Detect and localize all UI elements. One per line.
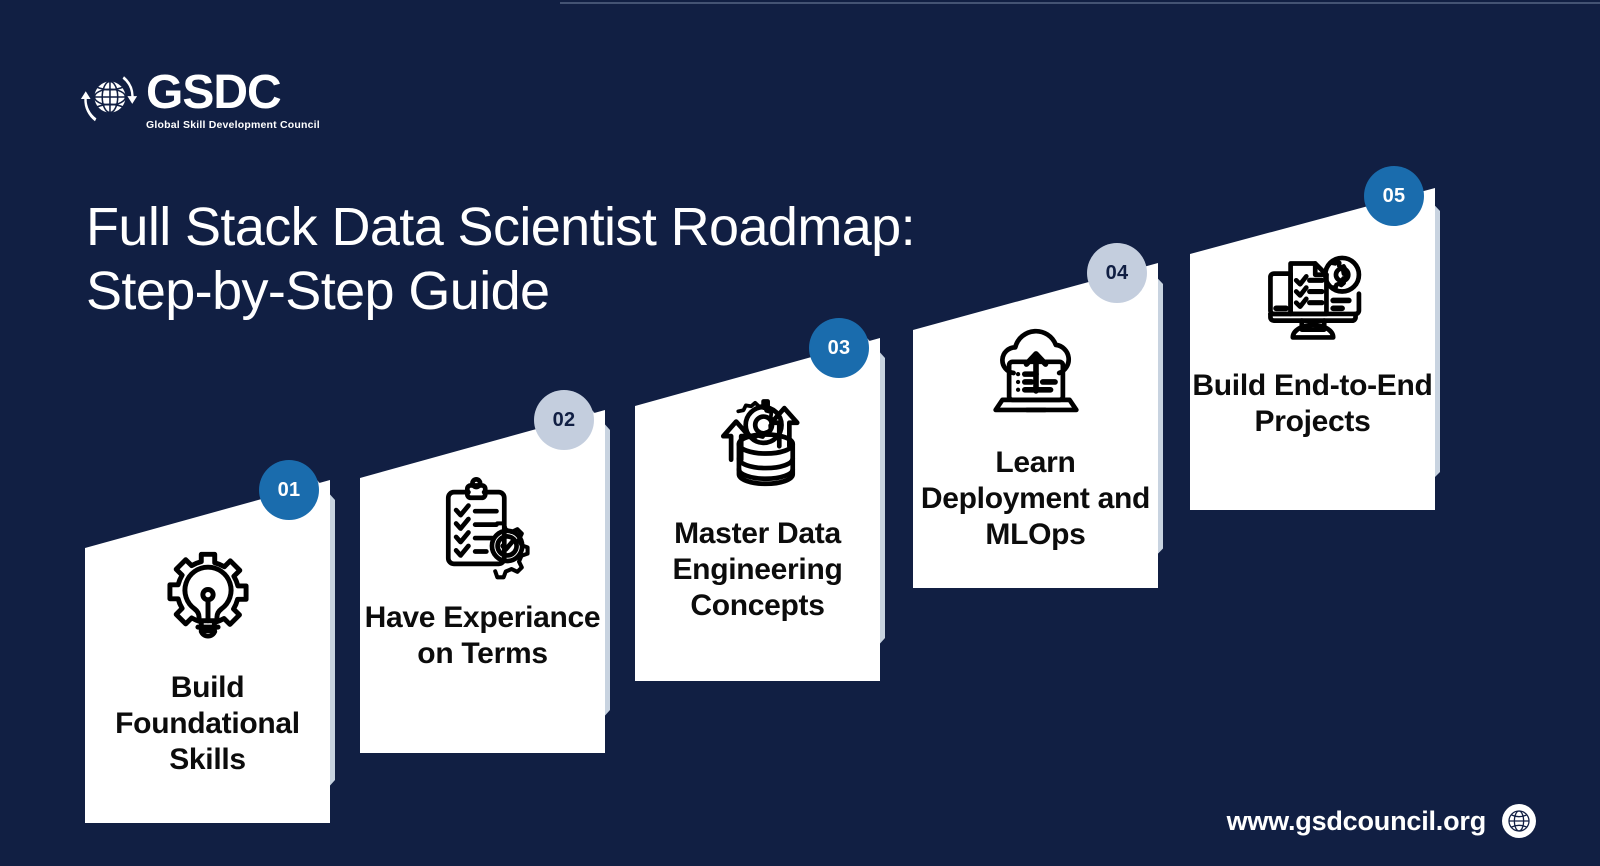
website-url[interactable]: www.gsdcouncil.org <box>1227 806 1486 837</box>
footer: www.gsdcouncil.org <box>1227 804 1536 838</box>
step-badge-4: 04 <box>1087 243 1147 303</box>
step-number-2: 02 <box>553 409 576 432</box>
roadmap-steps: Build Foundational Skills 01 <box>0 0 1600 866</box>
database-gear-arrows-icon <box>702 388 814 500</box>
card-content-2: Have Experiance on Terms <box>360 472 605 672</box>
step-number-3: 03 <box>828 337 851 360</box>
step-badge-1: 01 <box>259 460 319 520</box>
step-card-4[interactable]: Learn Deployment and MLOps 04 <box>913 255 1163 590</box>
step-label-4: Learn Deployment and MLOps <box>913 445 1158 553</box>
step-label-1: Build Foundational Skills <box>85 670 330 778</box>
card-content-3: Master Data Engineering Concepts <box>635 388 880 624</box>
step-card-2[interactable]: Have Experiance on Terms 02 <box>360 400 610 755</box>
step-badge-2: 02 <box>534 390 594 450</box>
step-card-3[interactable]: Master Data Engineering Concepts 03 <box>635 328 885 683</box>
step-label-5: Build End-to-End Projects <box>1190 368 1435 440</box>
step-badge-5: 05 <box>1364 166 1424 226</box>
card-content-1: Build Foundational Skills <box>85 542 330 778</box>
card-content-5: Build End-to-End Projects <box>1190 240 1435 440</box>
infographic-canvas: GSDC Global Skill Development Council Fu… <box>0 0 1600 866</box>
cloud-laptop-upload-icon <box>980 317 1092 429</box>
step-number-4: 04 <box>1106 262 1129 285</box>
step-card-1[interactable]: Build Foundational Skills 01 <box>85 470 335 825</box>
card-content-4: Learn Deployment and MLOps <box>913 317 1158 553</box>
step-label-2: Have Experiance on Terms <box>360 600 605 672</box>
lightbulb-gear-icon <box>152 542 264 654</box>
step-badge-3: 03 <box>809 318 869 378</box>
step-card-5[interactable]: Build End-to-End Projects 05 <box>1190 182 1440 512</box>
clipboard-checklist-gear-icon <box>427 472 539 584</box>
monitor-checklist-gear-icon <box>1257 240 1369 352</box>
step-number-5: 05 <box>1383 185 1406 208</box>
step-label-3: Master Data Engineering Concepts <box>635 516 880 624</box>
globe-icon <box>1502 804 1536 838</box>
step-number-1: 01 <box>278 479 301 502</box>
